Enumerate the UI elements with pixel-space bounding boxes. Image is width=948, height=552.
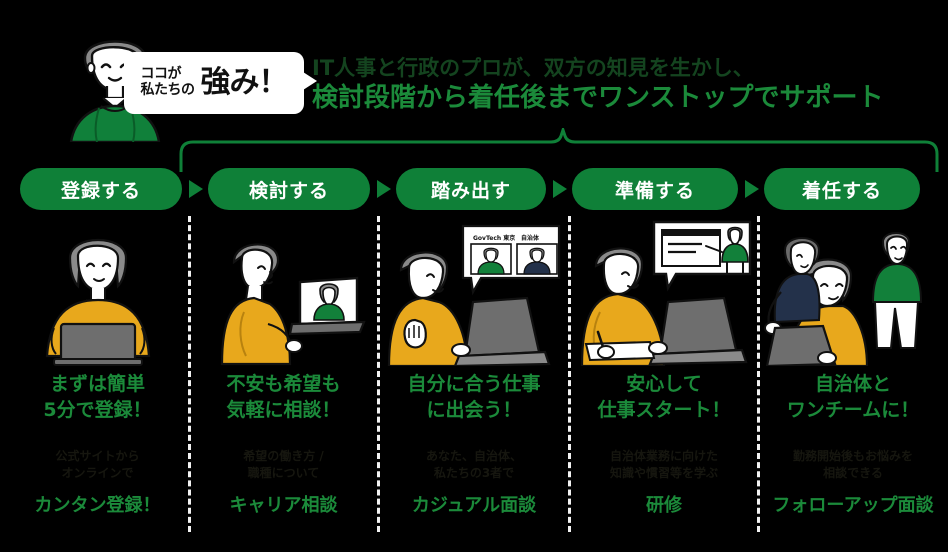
column-2-headline: 不安も希望も 気軽に相談！ <box>192 372 375 423</box>
team-support-icon <box>761 216 945 366</box>
column-3-description: あなた、自治体、 私たちの3者で <box>381 448 567 482</box>
three-way-meeting-icon: GovTech 東京 自治体 <box>381 216 567 366</box>
column-1-description-line-2: オンラインで <box>6 465 189 482</box>
column-3-description-line-2: 私たちの3者で <box>381 465 567 482</box>
column-4-tag: 研修 <box>572 491 756 517</box>
training-whiteboard-icon <box>572 216 756 366</box>
column-5-headline: 自治体と ワンチームに！ <box>761 372 945 423</box>
step-badge-2[interactable]: 検討する <box>208 168 370 210</box>
step-arrow-4-icon <box>745 180 759 198</box>
step-badge-1-label: 登録する <box>61 176 141 203</box>
column-5-description-line-2: 相談できる <box>761 465 945 482</box>
column-4-headline-line-2: 仕事スタート！ <box>572 398 756 424</box>
column-divider-4 <box>757 216 760 532</box>
step-badge-1[interactable]: 登録する <box>20 168 182 210</box>
column-5-description-line-1: 勤務開始後もお悩みを <box>761 448 945 465</box>
step-badge-5-label: 着任する <box>802 176 882 203</box>
column-4-description-line-1: 自治体業務に向けた <box>572 448 756 465</box>
column-2-description: 希望の働き方 / 職種について <box>192 448 375 482</box>
step-arrow-1-icon <box>189 180 203 198</box>
bubble-emphasis-text: 強み！ <box>201 68 288 98</box>
step-detail-columns: まずは簡単 5分で登録！ 公式サイトから オンラインで カンタン登録！ <box>0 216 948 552</box>
bubble-line-1: ココが <box>141 67 195 83</box>
column-2-description-line-1: 希望の働き方 / <box>192 448 375 465</box>
screen-label-right: 自治体 <box>521 234 540 242</box>
step-badge-3[interactable]: 踏み出す <box>396 168 546 210</box>
step-column-3: GovTech 東京 自治体 <box>381 216 567 552</box>
column-5-headline-line-1: 自治体と <box>761 372 945 398</box>
headline: IT人事と行政のプロが、双方の知見を生かし、 検討段階から着任後までワンストップ… <box>312 56 932 115</box>
column-2-headline-line-1: 不安も希望も <box>192 372 375 398</box>
person-video-call-icon <box>192 216 375 366</box>
step-column-1: まずは簡単 5分で登録！ 公式サイトから オンラインで カンタン登録！ <box>6 216 189 552</box>
column-2-description-line-2: 職種について <box>192 465 375 482</box>
column-1-description-line-1: 公式サイトから <box>6 448 189 465</box>
column-5-tag: フォローアップ面談 <box>761 491 945 517</box>
strength-speech-bubble: ココが 私たちの 強み！ <box>124 52 304 114</box>
column-5-headline-line-2: ワンチームに！ <box>761 398 945 424</box>
column-1-headline-line-2: 5分で登録！ <box>6 398 189 424</box>
column-2-tag: キャリア相談 <box>192 491 375 517</box>
column-1-description: 公式サイトから オンラインで <box>6 448 189 482</box>
column-1-headline-line-1: まずは簡単 <box>6 372 189 398</box>
column-3-headline-line-2: に出会う！ <box>381 398 567 424</box>
step-column-5: 自治体と ワンチームに！ 勤務開始後もお悩みを 相談できる フォローアップ面談 <box>761 216 945 552</box>
step-badge-4[interactable]: 準備する <box>572 168 738 210</box>
step-badge-5[interactable]: 着任する <box>764 168 920 210</box>
column-divider-3 <box>568 216 571 532</box>
person-at-laptop-front-icon <box>6 216 189 366</box>
column-1-tag: カンタン登録！ <box>6 491 189 517</box>
headline-line-2: 検討段階から着任後までワンストップでサポート <box>312 82 932 115</box>
column-4-headline-line-1: 安心して <box>572 372 756 398</box>
column-1-headline: まずは簡単 5分で登録！ <box>6 372 189 423</box>
infographic-root: ココが 私たちの 強み！ IT人事と行政のプロが、双方の知見を生かし、 検討段階… <box>0 0 948 552</box>
column-3-description-line-1: あなた、自治体、 <box>381 448 567 465</box>
grouping-bracket-icon <box>178 128 940 172</box>
column-divider-2 <box>377 216 380 532</box>
column-3-headline-line-1: 自分に合う仕事 <box>381 372 567 398</box>
step-column-2: 不安も希望も 気軽に相談！ 希望の働き方 / 職種について キャリア相談 <box>192 216 375 552</box>
step-column-4: 安心して 仕事スタート！ 自治体業務に向けた 知識や慣習等を学ぶ 研修 <box>572 216 756 552</box>
column-4-description: 自治体業務に向けた 知識や慣習等を学ぶ <box>572 448 756 482</box>
column-3-headline: 自分に合う仕事 に出会う！ <box>381 372 567 423</box>
column-4-description-line-2: 知識や慣習等を学ぶ <box>572 465 756 482</box>
column-divider-1 <box>188 216 191 532</box>
step-badge-3-label: 踏み出す <box>431 176 511 203</box>
bubble-line-2: 私たちの <box>141 83 195 99</box>
step-badge-4-label: 準備する <box>615 176 695 203</box>
headline-line-1: IT人事と行政のプロが、双方の知見を生かし、 <box>312 56 932 80</box>
column-4-headline: 安心して 仕事スタート！ <box>572 372 756 423</box>
step-arrow-2-icon <box>377 180 391 198</box>
step-badge-2-label: 検討する <box>249 176 329 203</box>
bubble-small-text: ココが 私たちの <box>141 67 195 98</box>
column-2-headline-line-2: 気軽に相談！ <box>192 398 375 424</box>
step-badge-row: 登録する 検討する 踏み出す 準備する 着任する <box>0 168 948 210</box>
column-3-tag: カジュアル面談 <box>381 491 567 517</box>
step-arrow-3-icon <box>553 180 567 198</box>
column-5-description: 勤務開始後もお悩みを 相談できる <box>761 448 945 482</box>
screen-label-left: GovTech 東京 <box>473 234 515 242</box>
